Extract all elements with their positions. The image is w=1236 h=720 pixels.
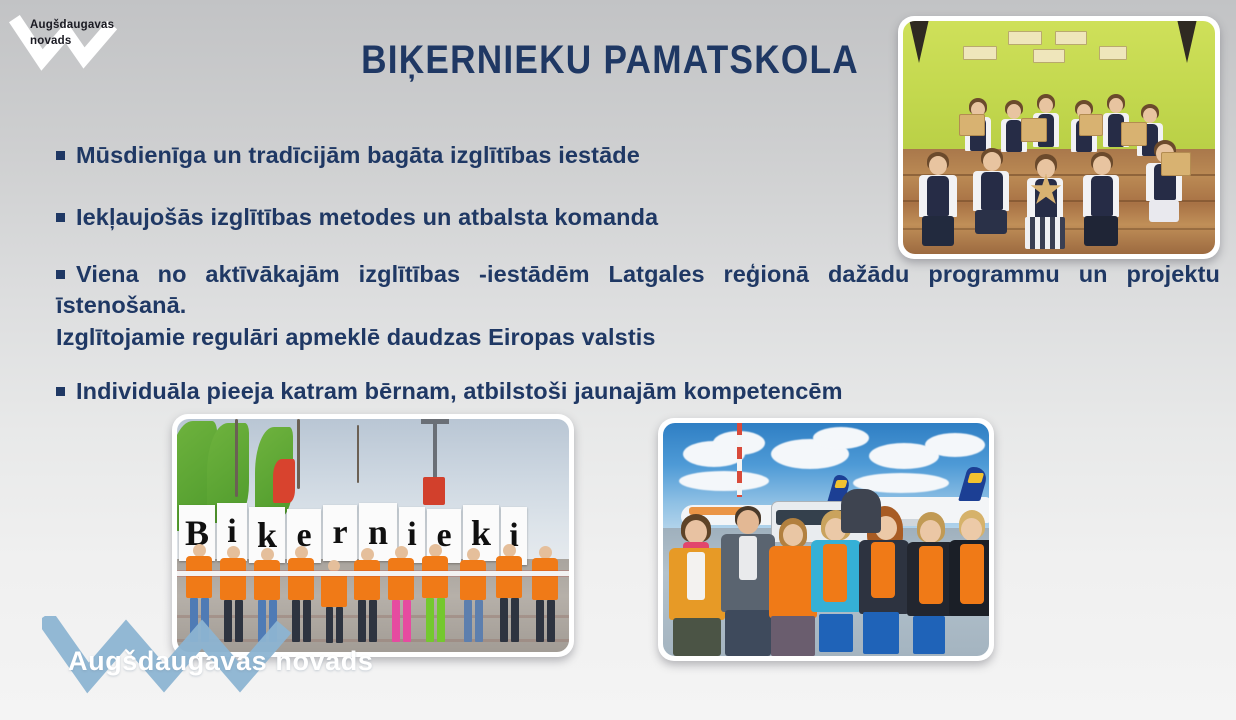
person bbox=[387, 546, 415, 644]
list-item: Individuāla pieeja katram bērnam, atbils… bbox=[56, 376, 1220, 407]
photo-airport-image bbox=[663, 423, 989, 656]
photo-airport bbox=[658, 418, 994, 661]
person bbox=[459, 548, 487, 644]
wall-frame bbox=[1008, 31, 1042, 45]
person bbox=[949, 510, 989, 656]
wall-frame bbox=[963, 46, 997, 60]
square-bullet-icon bbox=[56, 151, 65, 160]
logo-line-2: novads bbox=[30, 34, 126, 50]
cloud bbox=[813, 427, 869, 449]
person bbox=[917, 152, 959, 248]
photo-classroom bbox=[898, 16, 1220, 259]
wall-frame bbox=[1055, 31, 1087, 45]
tree bbox=[297, 419, 300, 489]
list-item-line-2: Izglītojamie regulāri apmeklē daudzas Ei… bbox=[56, 322, 1220, 353]
page-title: BIĶERNIEKU PAMATSKOLA bbox=[337, 38, 883, 83]
person bbox=[495, 544, 523, 644]
photo-classroom-image bbox=[903, 21, 1215, 254]
letter-sign: r bbox=[323, 505, 357, 561]
wooden-symbol bbox=[1161, 152, 1191, 176]
antenna-mast bbox=[737, 423, 742, 497]
list-item-label: Individuāla pieeja katram bērnam, atbils… bbox=[76, 378, 843, 404]
wooden-symbol bbox=[959, 114, 985, 136]
person bbox=[769, 516, 817, 656]
logo-line-1: Augšdaugavas bbox=[30, 18, 126, 34]
person bbox=[667, 514, 727, 656]
person bbox=[1079, 152, 1123, 248]
tree bbox=[357, 425, 359, 483]
person bbox=[1023, 154, 1067, 250]
square-bullet-icon bbox=[56, 213, 65, 222]
square-bullet-icon bbox=[56, 387, 65, 396]
logo-wordmark: Augšdaugavas novads bbox=[30, 18, 126, 49]
banner-number bbox=[423, 477, 445, 505]
cloud bbox=[925, 433, 985, 457]
person bbox=[421, 544, 449, 644]
wall-frame bbox=[1033, 49, 1065, 63]
list-item-line-1: Viena no aktīvākajām izglītības -iestādē… bbox=[56, 259, 1220, 322]
footer-wordmark: Augšdaugavas novads bbox=[68, 646, 374, 677]
decor-drape bbox=[909, 21, 929, 63]
decor-drape bbox=[1177, 21, 1197, 63]
wall-frame bbox=[1099, 46, 1127, 60]
person bbox=[907, 512, 955, 656]
person bbox=[969, 148, 1013, 236]
start-tape bbox=[177, 571, 569, 576]
list-item: Viena no aktīvākajām izglītības -iestādē… bbox=[56, 259, 1220, 353]
person bbox=[531, 546, 559, 644]
tree bbox=[235, 419, 238, 497]
square-bullet-icon bbox=[56, 270, 65, 279]
list-item-label: Mūsdienīga un tradīcijām bagāta izglītīb… bbox=[76, 142, 640, 168]
cloud bbox=[679, 471, 769, 491]
list-item-label: Iekļaujošās izglītības metodes un atbals… bbox=[76, 204, 658, 230]
list-item-label: Viena no aktīvākajām izglītības -iestādē… bbox=[56, 261, 1220, 318]
wooden-symbol bbox=[1021, 118, 1047, 142]
light-pole-arm bbox=[421, 419, 449, 424]
person-hooded bbox=[841, 489, 881, 533]
wooden-symbol bbox=[1079, 114, 1103, 136]
presentation-slide: Augšdaugavas novads BIĶERNIEKU PAMATSKOL… bbox=[0, 0, 1236, 720]
sponsor-banner bbox=[273, 459, 295, 503]
